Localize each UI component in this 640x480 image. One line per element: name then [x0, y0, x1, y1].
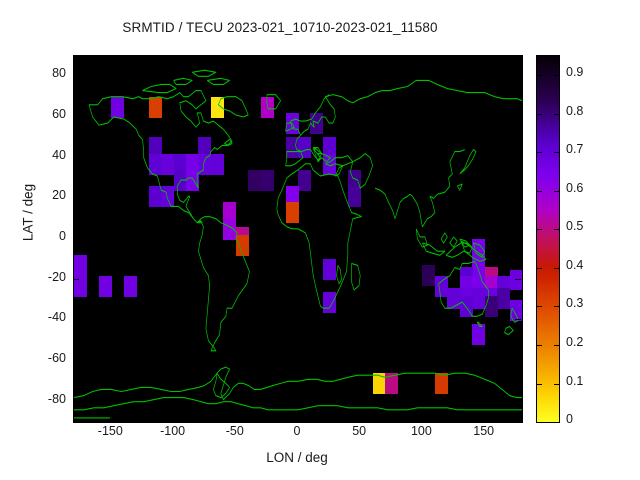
x-axis-tick	[297, 55, 298, 61]
heatmap-cell	[385, 373, 398, 394]
colorbar-tick-label: 0	[566, 412, 573, 426]
heatmap-cell	[74, 255, 87, 276]
heatmap-cell	[124, 276, 137, 297]
heatmap-cell	[422, 265, 435, 286]
colorbar-tick	[537, 306, 542, 307]
heatmap-cell	[149, 97, 162, 118]
colorbar-tick	[537, 229, 542, 230]
colorbar-tick-label: 0.6	[566, 181, 583, 195]
heatmap-cell	[298, 170, 311, 191]
heatmap-cell	[323, 292, 336, 313]
x-axis-tick	[110, 55, 111, 61]
y-axis-tick	[73, 197, 79, 198]
colorbar-tick	[554, 75, 559, 76]
heatmap-cell	[286, 113, 299, 134]
x-axis-tick-label: 0	[267, 424, 327, 438]
colorbar-tick-label: 0.8	[566, 104, 583, 118]
heatmap-cell	[373, 373, 386, 394]
y-axis-tick	[73, 238, 79, 239]
colorbar-tick	[554, 422, 559, 423]
heatmap-cell	[510, 270, 523, 291]
heatmap-cell	[286, 137, 299, 158]
heatmap-cell	[460, 296, 473, 317]
y-axis-tick	[73, 157, 79, 158]
colorbar-tick	[554, 191, 559, 192]
x-axis-tick-label: 50	[329, 424, 389, 438]
heatmap-cell	[323, 259, 336, 280]
y-axis-tick	[515, 360, 521, 361]
y-axis-tick	[515, 279, 521, 280]
y-axis-tick	[73, 360, 79, 361]
colorbar-tick	[537, 152, 542, 153]
x-axis-tick	[421, 55, 422, 61]
y-axis-tick	[515, 197, 521, 198]
y-axis-tick	[515, 238, 521, 239]
y-axis-tick	[515, 157, 521, 158]
heatmap-cell	[348, 186, 361, 207]
heatmap-cell	[198, 154, 211, 175]
heatmap-cell	[236, 235, 249, 256]
figure-canvas: SRMTID / TECU 2023-021_10710-2023-021_11…	[0, 0, 640, 480]
y-axis-tick-label: -80	[20, 392, 66, 406]
colorbar-tick	[537, 114, 542, 115]
chart-title: SRMTID / TECU 2023-021_10710-2023-021_11…	[0, 20, 560, 35]
heatmap-cell	[223, 219, 236, 240]
y-axis-tick-label: 40	[20, 148, 66, 162]
heatmap-cell	[99, 276, 112, 297]
colorbar-tick	[554, 268, 559, 269]
heatmap-cell	[472, 324, 485, 345]
y-axis-tick-label: 20	[20, 188, 66, 202]
x-axis-tick	[359, 55, 360, 61]
y-axis-tick-label: -20	[20, 270, 66, 284]
y-axis-tick	[73, 279, 79, 280]
x-axis-tick-label: -50	[205, 424, 265, 438]
heatmap-cell	[161, 154, 174, 175]
x-axis-tick	[484, 55, 485, 61]
colorbar-tick-label: 0.1	[566, 374, 583, 388]
colorbar-tick	[537, 268, 542, 269]
colorbar-tick	[537, 384, 542, 385]
heatmap-cell	[472, 288, 485, 309]
colorbar-tick	[554, 152, 559, 153]
x-axis-tick-label: -100	[143, 424, 203, 438]
colorbar-tick	[537, 191, 542, 192]
colorbar-tick-label: 0.2	[566, 335, 583, 349]
x-axis-tick	[421, 415, 422, 421]
heatmap-cell	[261, 97, 274, 118]
x-axis-tick	[173, 415, 174, 421]
y-axis-tick-label: 0	[20, 229, 66, 243]
map-plot-area	[73, 55, 523, 423]
colorbar-tick	[554, 114, 559, 115]
heatmap-cell	[435, 276, 448, 297]
heatmap-cell	[447, 288, 460, 309]
colorbar-tick	[537, 345, 542, 346]
heatmap-cell-layer	[74, 56, 522, 422]
heatmap-cell	[323, 154, 336, 175]
colorbar-tick	[554, 306, 559, 307]
heatmap-cell	[435, 373, 448, 394]
y-axis-tick	[515, 319, 521, 320]
colorbar-tick	[554, 384, 559, 385]
x-axis-tick	[110, 415, 111, 421]
y-axis-tick	[73, 401, 79, 402]
heatmap-cell	[286, 202, 299, 223]
y-axis-tick-label: -40	[20, 310, 66, 324]
y-axis-tick	[73, 116, 79, 117]
heatmap-cell	[211, 154, 224, 175]
y-axis-tick	[515, 401, 521, 402]
heatmap-cell	[111, 97, 124, 118]
colorbar-gradient	[537, 56, 559, 422]
colorbar-tick-label: 0.3	[566, 296, 583, 310]
y-axis-tick-label: 80	[20, 66, 66, 80]
heatmap-cell	[149, 186, 162, 207]
colorbar-tick	[554, 345, 559, 346]
heatmap-cell	[211, 97, 224, 118]
y-axis-label: LAT / deg	[21, 143, 36, 283]
y-axis-tick-label: 60	[20, 107, 66, 121]
colorbar-tick-label: 0.7	[566, 142, 583, 156]
heatmap-cell	[310, 113, 323, 134]
x-axis-tick	[235, 55, 236, 61]
x-axis-tick-label: -150	[80, 424, 140, 438]
heatmap-cell	[497, 288, 510, 309]
x-axis-tick	[484, 415, 485, 421]
colorbar-tick-label: 0.5	[566, 219, 583, 233]
y-axis-tick	[515, 75, 521, 76]
heatmap-cell	[472, 255, 485, 276]
heatmap-cell	[510, 300, 523, 321]
x-axis-tick-label: 100	[391, 424, 451, 438]
x-axis-tick	[359, 415, 360, 421]
colorbar-tick-label: 0.9	[566, 65, 583, 79]
y-axis-tick	[73, 319, 79, 320]
heatmap-cell	[485, 296, 498, 317]
x-axis-label: LON / deg	[73, 450, 521, 465]
colorbar-tick	[554, 229, 559, 230]
y-axis-tick-label: -60	[20, 351, 66, 365]
colorbar-tick-label: 0.4	[566, 258, 583, 272]
heatmap-cell	[149, 154, 162, 175]
y-axis-tick	[515, 116, 521, 117]
colorbar-tick	[537, 422, 542, 423]
heatmap-cell	[248, 170, 261, 191]
heatmap-cell	[261, 170, 274, 191]
heatmap-cell	[174, 170, 187, 191]
heatmap-cell	[298, 137, 311, 158]
colorbar	[536, 55, 560, 423]
heatmap-cell	[161, 186, 174, 207]
x-axis-tick-label: 150	[454, 424, 514, 438]
y-axis-tick	[73, 75, 79, 76]
colorbar-tick	[537, 75, 542, 76]
heatmap-cell	[186, 170, 199, 191]
x-axis-tick	[297, 415, 298, 421]
x-axis-tick	[173, 55, 174, 61]
x-axis-tick	[235, 415, 236, 421]
